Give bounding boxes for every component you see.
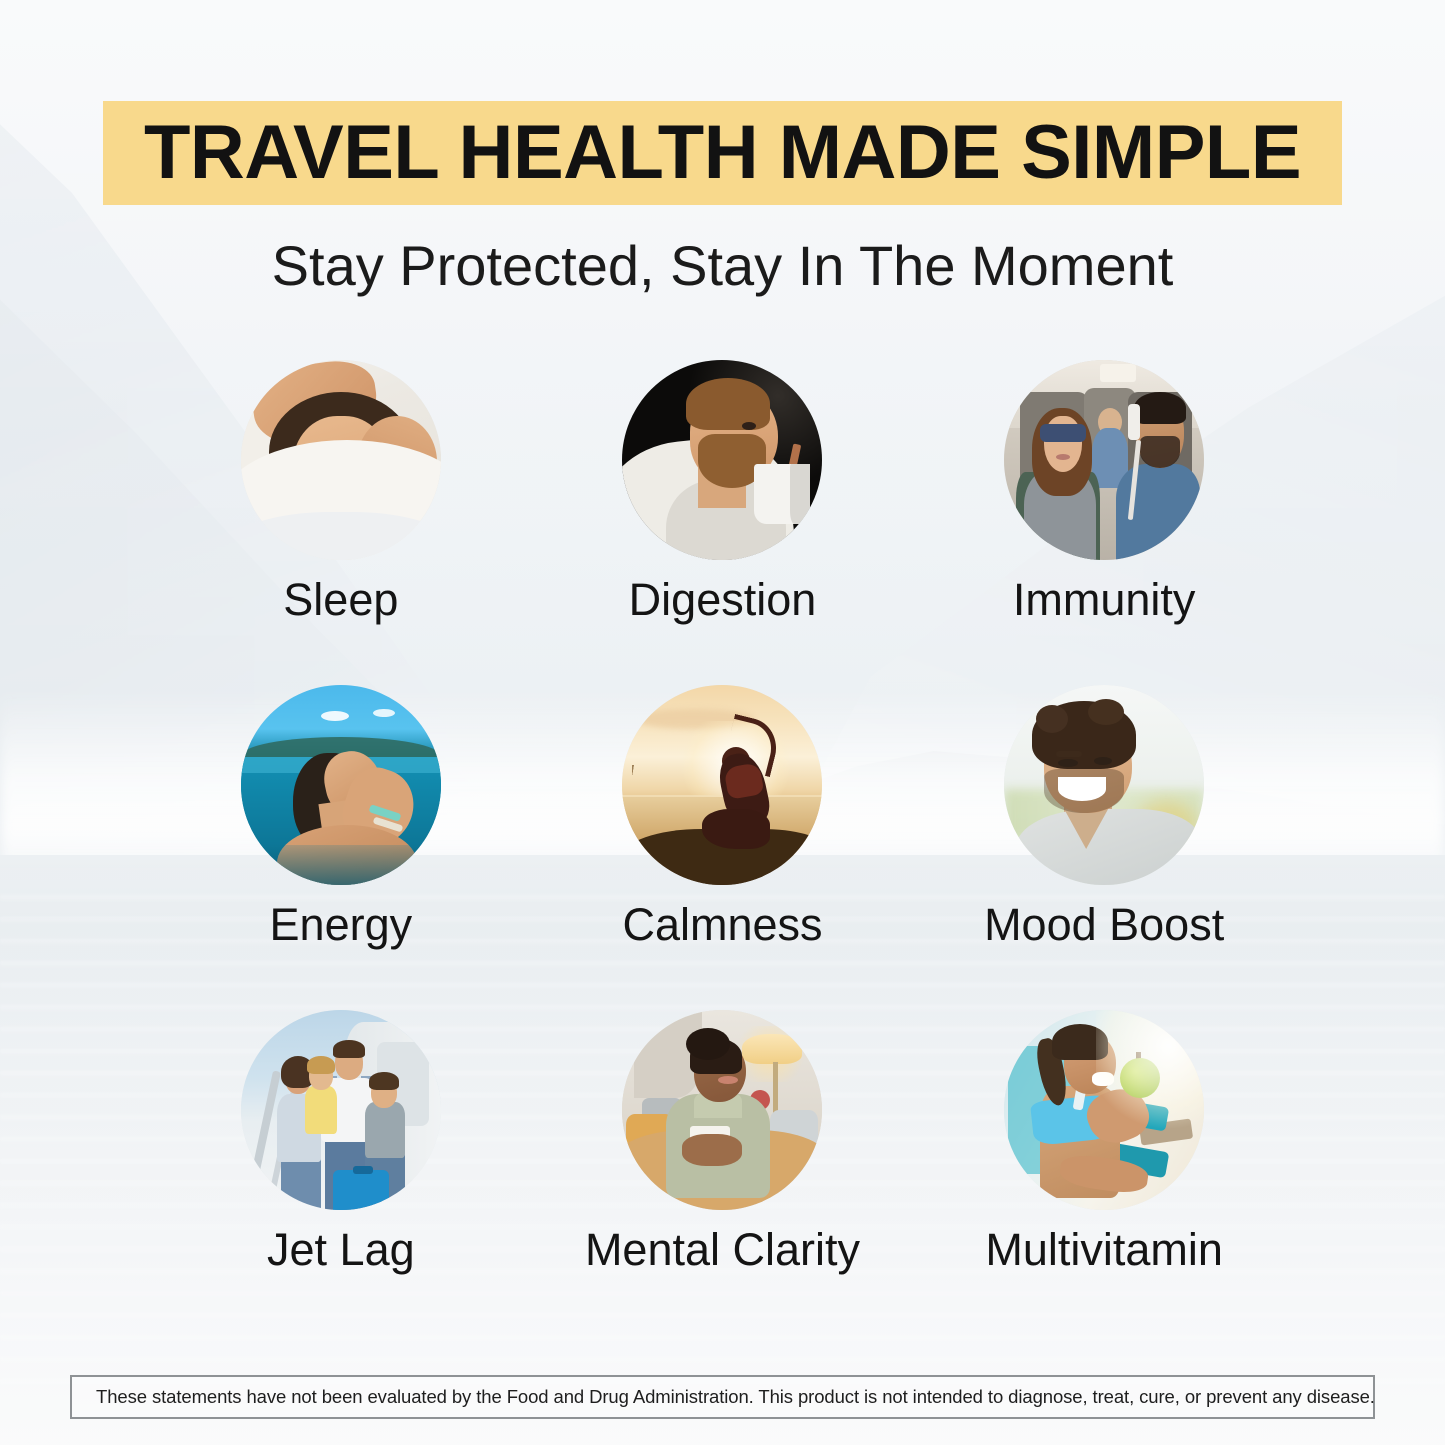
page-subtitle: Stay Protected, Stay In The Moment xyxy=(0,233,1445,298)
benefit-label-multivitamin: Multivitamin xyxy=(985,1226,1223,1273)
benefits-grid: Sleep Digestion xyxy=(150,360,1295,1335)
benefit-image-immunity xyxy=(1004,360,1204,560)
benefit-label-immunity: Immunity xyxy=(1013,576,1196,623)
benefit-image-energy xyxy=(241,685,441,885)
benefit-item-multivitamin[interactable]: Multivitamin xyxy=(913,1010,1295,1335)
benefit-image-mood-boost xyxy=(1004,685,1204,885)
benefit-label-calmness: Calmness xyxy=(622,901,822,948)
benefit-image-mental-clarity xyxy=(622,1010,822,1210)
benefits-row: Energy Calmness xyxy=(150,685,1295,1010)
benefit-image-calmness xyxy=(622,685,822,885)
benefit-item-energy[interactable]: Energy xyxy=(150,685,532,1010)
benefit-image-digestion xyxy=(622,360,822,560)
benefits-row: Sleep Digestion xyxy=(150,360,1295,685)
benefit-label-jet-lag: Jet Lag xyxy=(267,1226,415,1273)
page-title: TRAVEL HEALTH MADE SIMPLE xyxy=(144,115,1301,191)
benefit-image-jet-lag xyxy=(241,1010,441,1210)
fda-disclaimer-text: These statements have not been evaluated… xyxy=(72,1386,1375,1408)
benefit-label-mood-boost: Mood Boost xyxy=(984,901,1224,948)
benefit-image-multivitamin xyxy=(1004,1010,1204,1210)
product-infographic: TRAVEL HEALTH MADE SIMPLE Stay Protected… xyxy=(0,0,1445,1445)
benefit-item-mental-clarity[interactable]: Mental Clarity xyxy=(532,1010,914,1335)
benefit-image-sleep xyxy=(241,360,441,560)
benefit-label-energy: Energy xyxy=(270,901,413,948)
benefits-row: Jet Lag Mental Clarity xyxy=(150,1010,1295,1335)
benefit-item-jet-lag[interactable]: Jet Lag xyxy=(150,1010,532,1335)
title-banner: TRAVEL HEALTH MADE SIMPLE xyxy=(103,101,1342,205)
benefit-item-mood-boost[interactable]: Mood Boost xyxy=(913,685,1295,1010)
benefit-label-sleep: Sleep xyxy=(283,576,398,623)
benefit-item-sleep[interactable]: Sleep xyxy=(150,360,532,685)
benefit-item-calmness[interactable]: Calmness xyxy=(532,685,914,1010)
benefit-label-digestion: Digestion xyxy=(629,576,817,623)
benefit-label-mental-clarity: Mental Clarity xyxy=(585,1226,860,1273)
benefit-item-digestion[interactable]: Digestion xyxy=(532,360,914,685)
fda-disclaimer-box: These statements have not been evaluated… xyxy=(70,1375,1375,1419)
benefit-item-immunity[interactable]: Immunity xyxy=(913,360,1295,685)
